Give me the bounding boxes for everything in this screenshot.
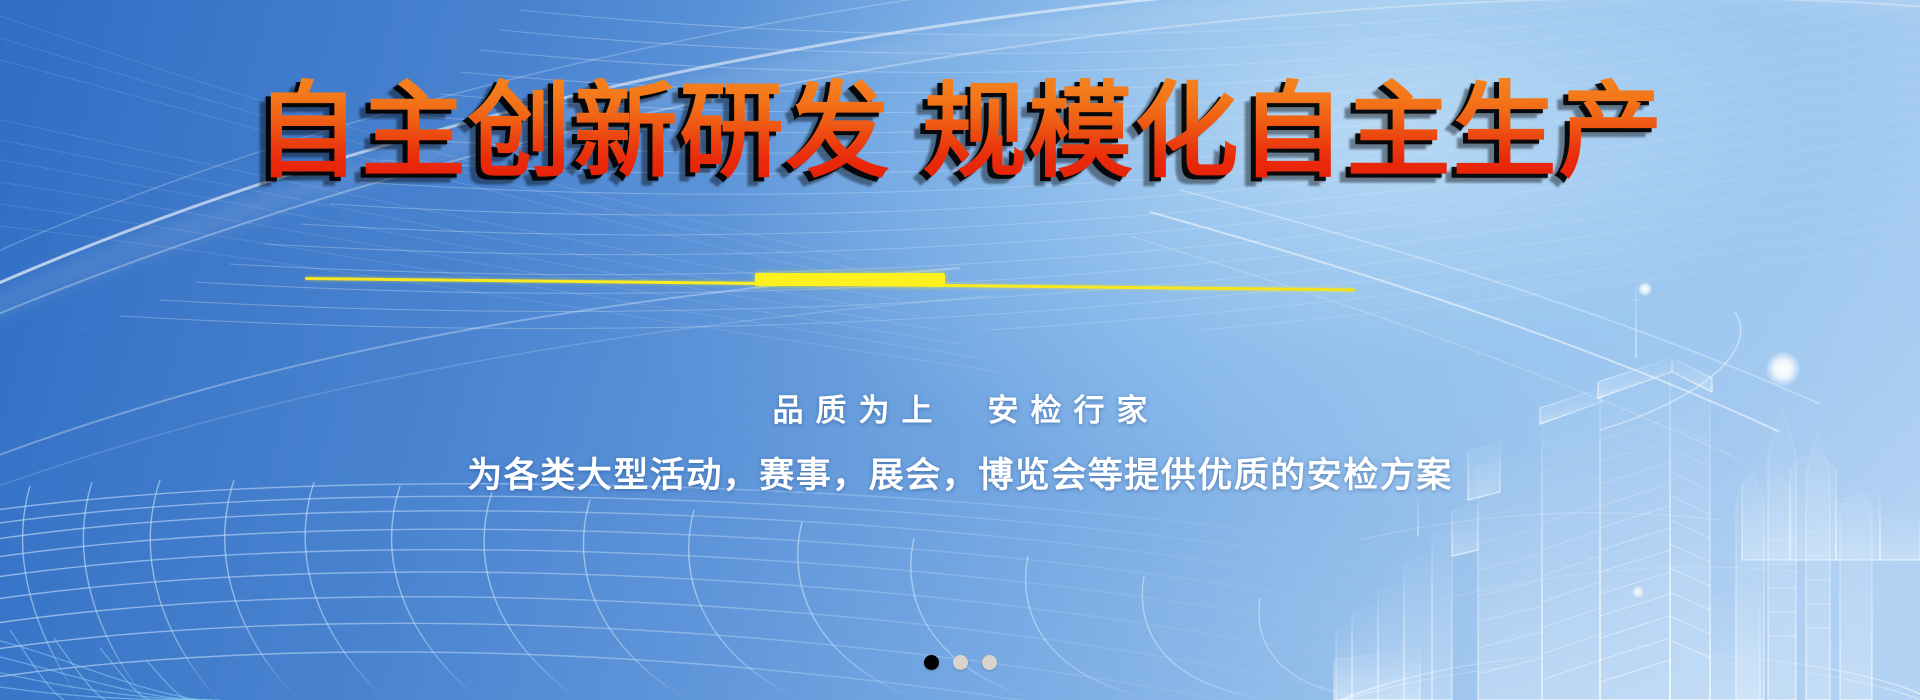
headline-container: 自主创新研发 规模化自主生产 xyxy=(0,78,1920,187)
sparkle-dot-small xyxy=(1638,282,1652,296)
yellow-divider xyxy=(305,272,1355,286)
sparkle-dot-tiny-3 xyxy=(1632,586,1644,598)
carousel-dot-2[interactable] xyxy=(953,655,968,670)
banner-headline: 自主创新研发 规模化自主生产 xyxy=(256,78,1665,187)
banner-subtitle-secondary: 为各类大型活动，赛事，展会，博览会等提供优质的安检方案 xyxy=(0,447,1920,498)
divider-thick-segment xyxy=(755,273,945,286)
carousel-dot-1[interactable] xyxy=(924,655,939,670)
carousel-dot-3[interactable] xyxy=(982,655,997,670)
carousel-dots[interactable] xyxy=(0,655,1920,670)
hero-banner-slide: 自主创新研发 规模化自主生产 品质为上 安检行家 为各类大型活动，赛事，展会，博… xyxy=(0,0,1920,700)
banner-subtitle-primary: 品质为上 安检行家 xyxy=(0,385,1920,430)
orbit-glow-dot xyxy=(1766,352,1800,386)
